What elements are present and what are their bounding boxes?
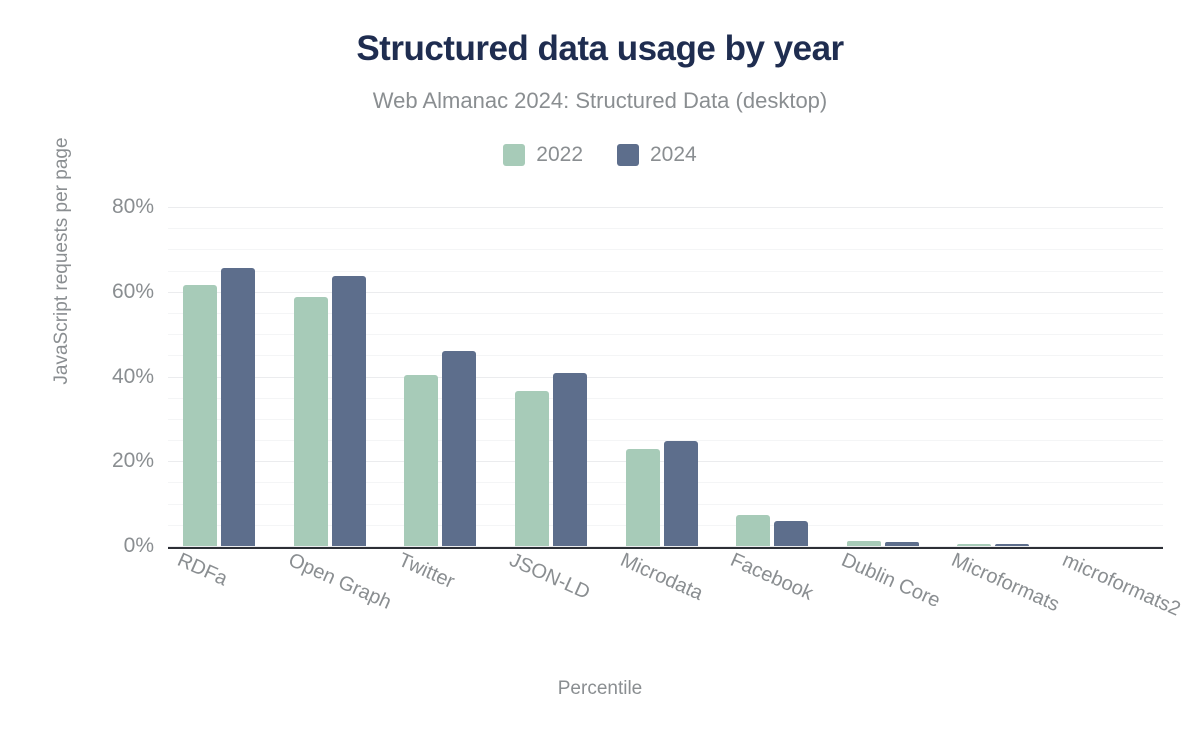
bar-group	[294, 207, 366, 546]
y-axis-tick-label: 80%	[14, 195, 154, 219]
bar-2022[interactable]	[847, 541, 881, 546]
bar-group	[404, 207, 476, 546]
x-axis-tick-label: Microformats	[948, 549, 1063, 617]
bar-2022[interactable]	[294, 297, 328, 546]
bar-2024[interactable]	[774, 521, 808, 546]
x-axis-tick-label: RDFa	[174, 549, 231, 591]
bar-2024[interactable]	[885, 542, 919, 546]
y-axis-tick-label: 0%	[14, 534, 154, 558]
bar-group	[1068, 207, 1140, 546]
bar-group	[626, 207, 698, 546]
bar-2022[interactable]	[515, 391, 549, 546]
bar-2022[interactable]	[957, 544, 991, 546]
bar-2024[interactable]	[442, 351, 476, 546]
bar-group	[736, 207, 808, 546]
x-axis-tick-label: Open Graph	[284, 549, 394, 615]
bar-2022[interactable]	[183, 285, 217, 546]
y-axis-tick-label: 40%	[14, 365, 154, 389]
bar-group	[847, 207, 919, 546]
bar-2024[interactable]	[221, 268, 255, 546]
x-axis-tick-labels: RDFaOpen GraphTwitterJSON-LDMicrodataFac…	[168, 549, 1163, 669]
x-axis-tick-label: Dublin Core	[837, 549, 943, 613]
bar-group	[183, 207, 255, 546]
chart-container: Structured data usage by year Web Almana…	[0, 0, 1200, 742]
x-axis-tick-label: Facebook	[727, 549, 817, 606]
bar-2022[interactable]	[736, 515, 770, 546]
y-axis-tick-label: 60%	[14, 280, 154, 304]
x-axis-title: Percentile	[0, 678, 1200, 700]
bar-group	[515, 207, 587, 546]
gridline-major	[168, 546, 1163, 547]
x-axis-tick-label: Twitter	[395, 549, 458, 594]
x-axis-tick-label: microformats2	[1058, 549, 1183, 622]
plot-wrapper: JavaScript requests per page Percentile …	[0, 0, 1200, 742]
bar-2024[interactable]	[664, 441, 698, 546]
bar-2022[interactable]	[626, 449, 660, 546]
bar-2024[interactable]	[995, 544, 1029, 546]
x-axis-tick-label: Microdata	[616, 549, 706, 606]
bars-layer	[168, 207, 1163, 546]
bar-2024[interactable]	[553, 373, 587, 546]
y-axis-tick-label: 20%	[14, 449, 154, 473]
bar-2024[interactable]	[332, 276, 366, 546]
bar-group	[957, 207, 1029, 546]
bar-2022[interactable]	[404, 375, 438, 546]
x-axis-tick-label: JSON-LD	[506, 549, 594, 605]
